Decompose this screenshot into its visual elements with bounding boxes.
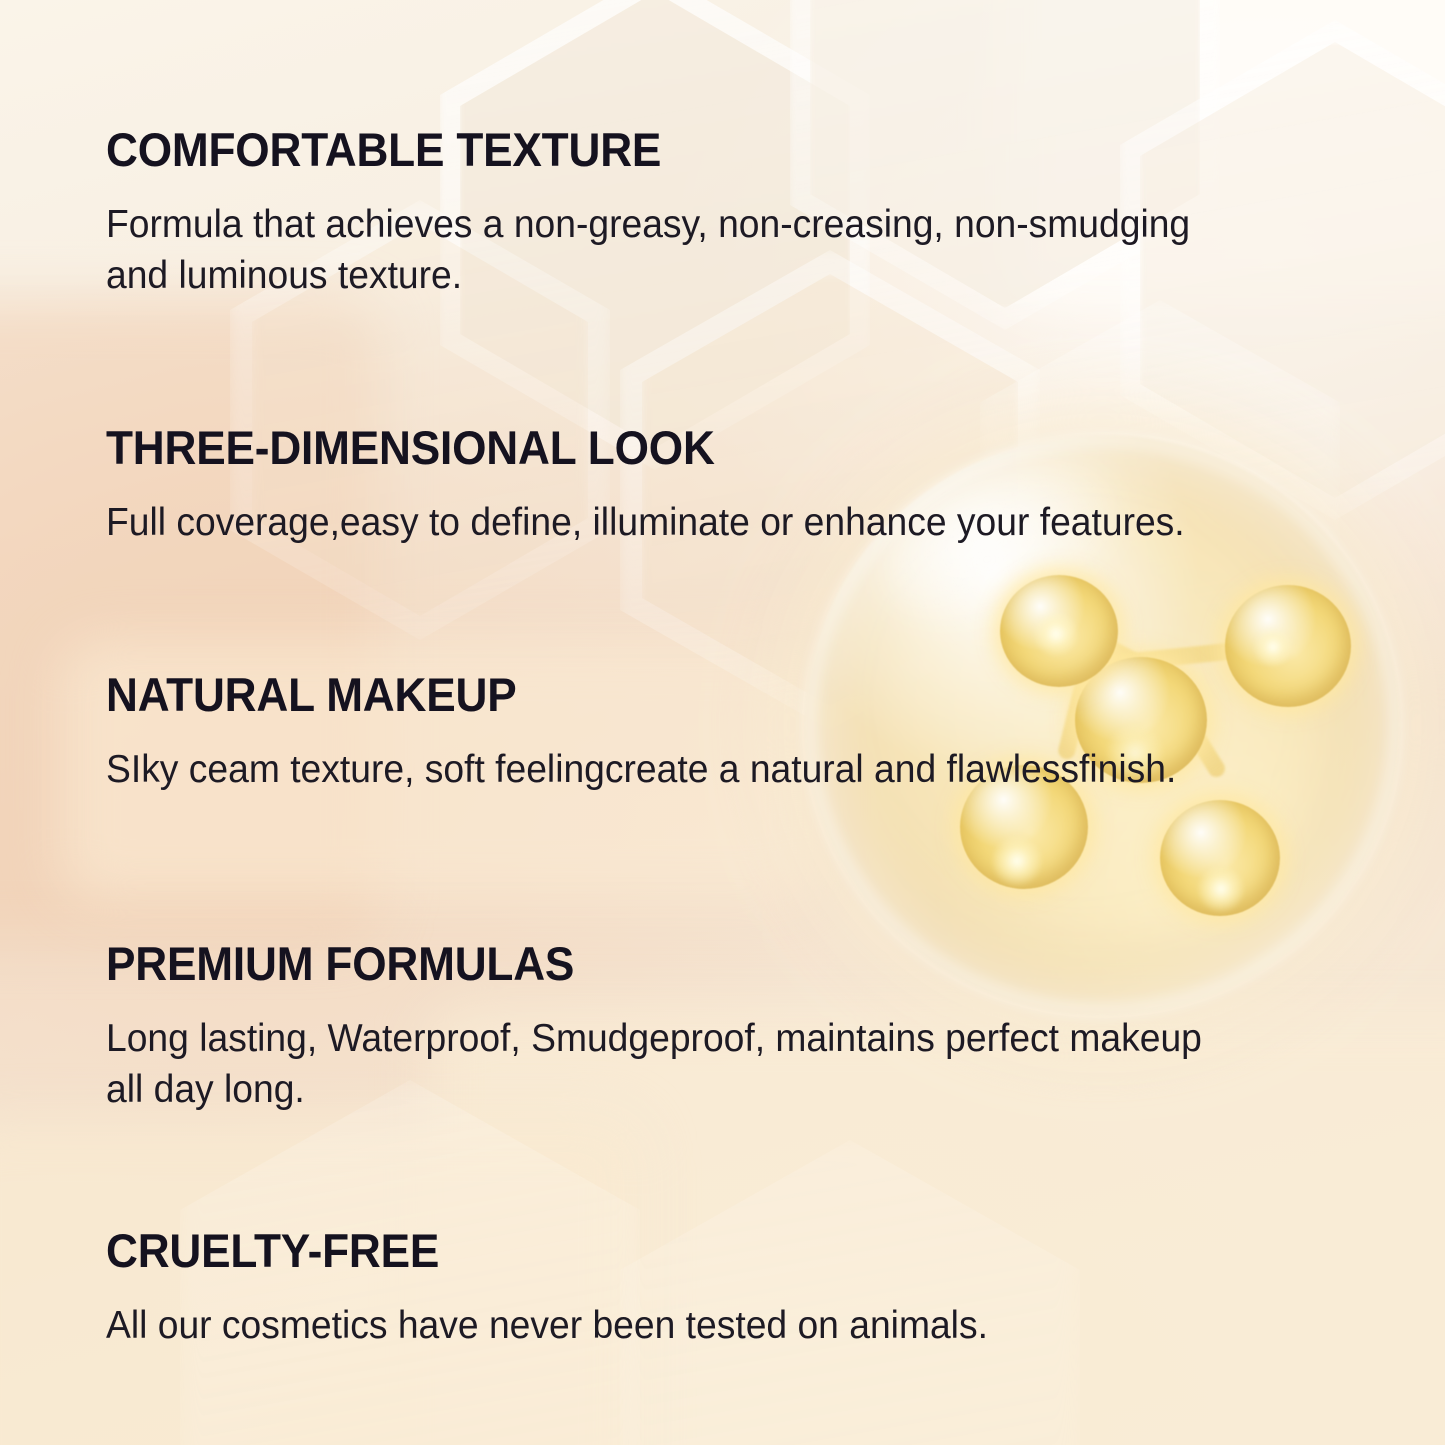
feature-description: Full coverage,easy to define, illuminate… bbox=[106, 498, 1185, 549]
feature-description: Long lasting, Waterproof, Smudgeproof, m… bbox=[106, 1014, 1202, 1115]
feature-list: COMFORTABLE TEXTURE Formula that achieve… bbox=[0, 0, 1445, 1445]
feature-title: COMFORTABLE TEXTURE bbox=[106, 126, 1173, 173]
feature-description-line: All our cosmetics have never been tested… bbox=[106, 1301, 988, 1352]
feature-block-three-dimensional-look: THREE-DIMENSIONAL LOOK Full coverage,eas… bbox=[106, 424, 1235, 549]
feature-block-comfortable-texture: COMFORTABLE TEXTURE Formula that achieve… bbox=[106, 126, 1241, 301]
feature-block-natural-makeup: NATURAL MAKEUP SIky ceam texture, soft f… bbox=[106, 671, 1227, 796]
feature-description-line: and luminous texture. bbox=[106, 251, 1190, 302]
feature-description: Formula that achieves a non-greasy, non-… bbox=[106, 200, 1190, 301]
feature-description: SIky ceam texture, soft feelingcreate a … bbox=[106, 745, 1176, 796]
feature-description-line: Full coverage,easy to define, illuminate… bbox=[106, 498, 1185, 549]
feature-title: CRUELTY-FREE bbox=[106, 1227, 974, 1274]
feature-block-cruelty-free: CRUELTY-FREE All our cosmetics have neve… bbox=[106, 1227, 1030, 1352]
feature-title: THREE-DIMENSIONAL LOOK bbox=[106, 424, 1168, 471]
feature-title: NATURAL MAKEUP bbox=[106, 671, 1160, 718]
feature-block-premium-formulas: PREMIUM FORMULAS Long lasting, Waterproo… bbox=[106, 940, 1254, 1115]
feature-description-line: Long lasting, Waterproof, Smudgeproof, m… bbox=[106, 1014, 1202, 1065]
feature-title: PREMIUM FORMULAS bbox=[106, 940, 1185, 987]
feature-description-line: Formula that achieves a non-greasy, non-… bbox=[106, 200, 1190, 251]
feature-description-line: SIky ceam texture, soft feelingcreate a … bbox=[106, 745, 1176, 796]
feature-description: All our cosmetics have never been tested… bbox=[106, 1301, 988, 1352]
feature-description-line: all day long. bbox=[106, 1065, 1202, 1116]
product-feature-graphic: COMFORTABLE TEXTURE Formula that achieve… bbox=[0, 0, 1445, 1445]
